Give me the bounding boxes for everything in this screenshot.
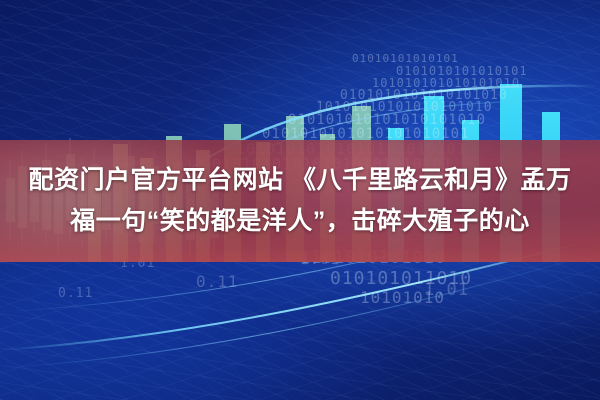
headline: 配资门户官方平台网站 《八千里路云和月》孟万 福一句“笑的都是洋人”，击碎大殖子… [0, 160, 600, 242]
headline-line-1: 配资门户官方平台网站 《八千里路云和月》孟万 [14, 160, 586, 201]
headline-line-2: 福一句“笑的都是洋人”，击碎大殖子的心 [14, 201, 586, 242]
banner-canvas: 0101010101010101010101010101011010101010… [0, 0, 600, 400]
